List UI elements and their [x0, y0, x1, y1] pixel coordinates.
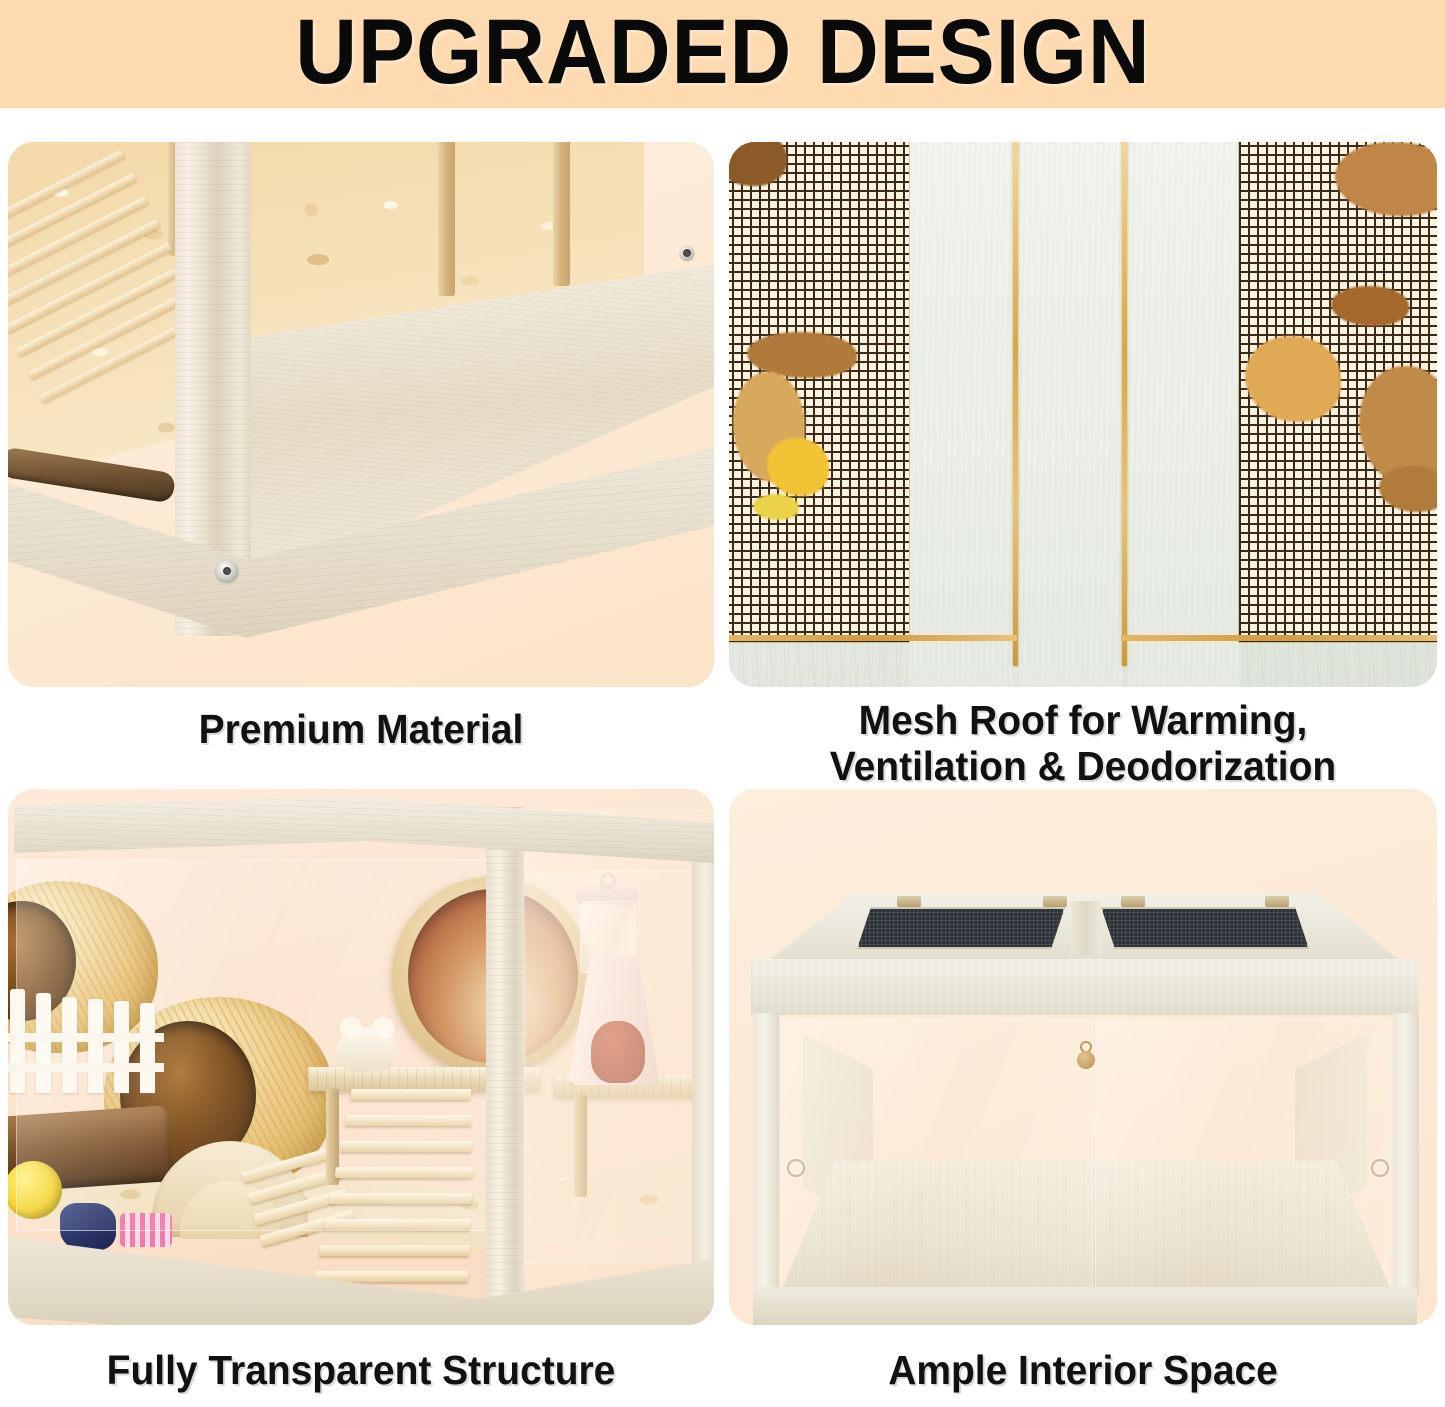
mesh-screen-panel-right — [1239, 142, 1437, 642]
acrylic-front-pane-right — [1095, 1019, 1391, 1291]
lid-hinge — [1265, 896, 1289, 907]
cage-right-post — [1393, 1013, 1419, 1295]
lid-hinge — [897, 896, 921, 907]
roof-seam-line — [1122, 142, 1127, 666]
header-banner: UPGRADED DESIGN — [0, 0, 1445, 108]
feature-panel-fully-transparent — [8, 789, 714, 1325]
roof-seam-line — [1013, 142, 1018, 666]
caption-text: Premium Material — [199, 706, 524, 752]
cage-right-depth-face — [500, 809, 714, 1325]
lid-hinge — [1043, 896, 1067, 907]
caption-text: Fully Transparent Structure — [107, 1347, 616, 1393]
assembly-screw — [216, 560, 238, 582]
interior-blur-shape — [1245, 336, 1341, 422]
caption-mesh-roof: Mesh Roof for Warming, Ventilation & Deo… — [747, 698, 1420, 790]
acrylic-front-pane-left — [781, 1019, 1093, 1291]
mesh-lid-left — [857, 907, 1065, 949]
interior-blur-shape — [767, 438, 829, 496]
mesh-roof-photo — [729, 142, 1437, 687]
door-latch — [1077, 1041, 1095, 1069]
feature-panel-premium-material — [8, 142, 714, 687]
ventilation-hole-right — [1371, 1159, 1389, 1177]
ventilation-hole-left — [787, 1159, 805, 1177]
roof-plank — [909, 142, 1014, 687]
roof-plank — [1019, 142, 1123, 687]
interior-blur-shape — [1379, 466, 1437, 512]
cage-post — [553, 142, 570, 286]
interior-blur-shape — [753, 494, 799, 520]
latch-knob — [1077, 1051, 1095, 1069]
mesh-screen-panel-left — [729, 142, 909, 642]
infographic-page: UPGRADED DESIGN — [0, 0, 1445, 1407]
feature-panel-ample-interior-space — [729, 789, 1437, 1325]
interior-blur-shape — [1335, 142, 1437, 216]
fully-transparent-photo — [8, 789, 714, 1325]
acrylic-front-pane — [16, 859, 488, 1231]
roof-seam-line — [729, 635, 1017, 641]
interior-blur-shape — [729, 142, 787, 186]
caption-ample-interior-space: Ample Interior Space — [747, 1348, 1420, 1394]
ample-interior-space-photo — [729, 789, 1437, 1325]
caption-text-line-2: Ventilation & Deodorization — [747, 744, 1420, 790]
premium-material-photo — [8, 142, 714, 687]
assembly-screw — [680, 246, 694, 260]
caption-fully-transparent: Fully Transparent Structure — [26, 1348, 697, 1394]
cage-right-edge-post — [692, 861, 714, 1311]
feature-panel-mesh-roof — [729, 142, 1437, 687]
cage-corner-post — [486, 807, 524, 1323]
caption-premium-material: Premium Material — [26, 707, 697, 753]
roof-center-divider — [1071, 901, 1101, 955]
page-title: UPGRADED DESIGN — [295, 6, 1150, 102]
caption-text: Ample Interior Space — [888, 1347, 1278, 1393]
cage-left-post — [753, 1013, 779, 1295]
roof-plank — [1128, 142, 1240, 687]
lid-hinge — [1121, 896, 1145, 907]
roof-seam-line — [1121, 635, 1437, 641]
cage-post — [438, 142, 455, 296]
mesh-lid-right — [1101, 907, 1309, 949]
interior-blur-shape — [1331, 286, 1409, 326]
cage-base-board — [753, 1287, 1417, 1325]
caption-text-line-1: Mesh Roof for Warming, — [747, 698, 1420, 744]
